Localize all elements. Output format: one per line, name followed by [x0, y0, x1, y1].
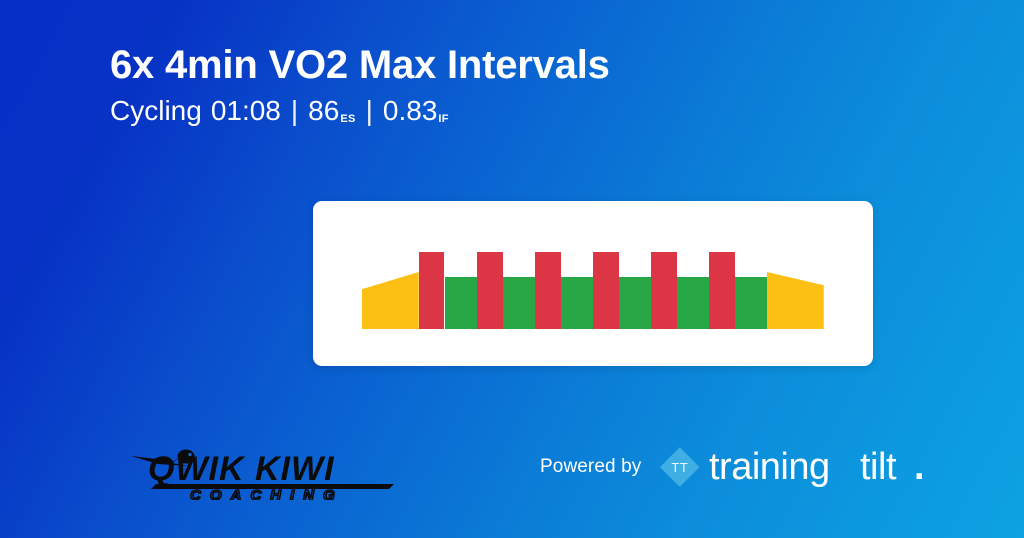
intensity-factor-value: 0.83 [383, 96, 438, 127]
workout-segment [735, 277, 767, 329]
workout-segment [419, 252, 445, 329]
workout-segment [445, 277, 477, 329]
svg-text:tilt: tilt [860, 446, 897, 488]
training-tilt-wordmark: training tilt . [709, 445, 953, 489]
stress-score-unit: ES [340, 113, 355, 125]
tt-monogram: TT [660, 448, 699, 487]
summary-separator-2: | [366, 96, 373, 127]
stress-score-value: 86 [308, 96, 339, 127]
page-title: 6x 4min VO2 Max Intervals [110, 44, 610, 87]
workout-chart-card [313, 201, 873, 366]
workout-chart-plot [362, 234, 824, 329]
workout-segment [619, 277, 651, 329]
workout-segment [561, 277, 593, 329]
qwik-kiwi-coaching-logo: QWIK KIWI COACHING [128, 432, 400, 500]
workout-header: 6x 4min VO2 Max Intervals Cycling 01:08 … [110, 44, 610, 127]
intensity-factor-unit: IF [438, 113, 448, 125]
footer: QWIK KIWI COACHING Powered by TT trainin… [0, 424, 1024, 514]
sport-label: Cycling [110, 96, 202, 127]
svg-text:training: training [709, 446, 830, 488]
workout-segment [767, 272, 824, 329]
duration-value: 01:08 [211, 96, 281, 127]
summary-separator-1: | [291, 96, 298, 127]
training-tilt-diamond-icon: TT [660, 448, 699, 487]
workout-segment [477, 252, 503, 329]
workout-segment [593, 252, 619, 329]
workout-segment [677, 277, 709, 329]
workout-segment [651, 252, 677, 329]
workout-segment [362, 272, 419, 329]
svg-text:COACHING: COACHING [190, 487, 344, 500]
svg-text:.: . [914, 446, 925, 488]
workout-segment [503, 277, 535, 329]
workout-summary: Cycling 01:08 | 86ES | 0.83IF [110, 96, 610, 127]
workout-segment [535, 252, 561, 329]
workout-segments [362, 234, 824, 329]
powered-by-block: Powered by TT training tilt . [540, 444, 953, 490]
workout-segment [709, 252, 735, 329]
powered-by-label: Powered by [540, 456, 641, 478]
svg-text:QWIK KIWI: QWIK KIWI [148, 450, 335, 488]
